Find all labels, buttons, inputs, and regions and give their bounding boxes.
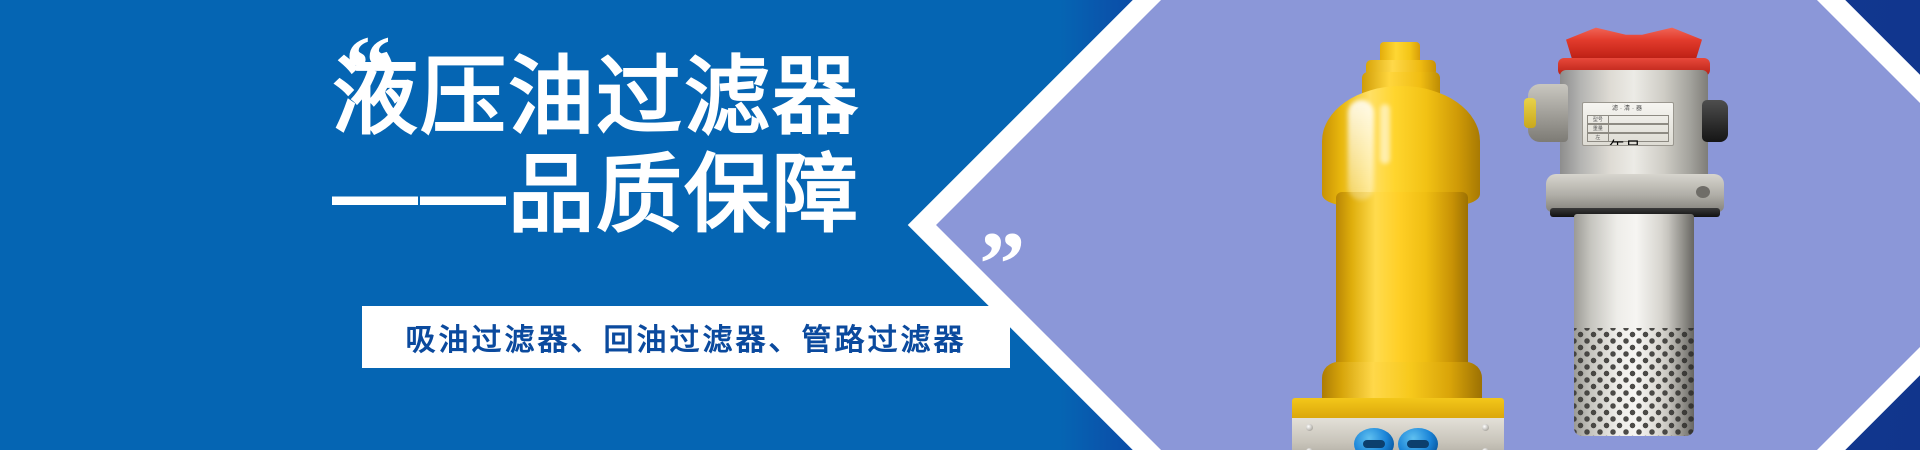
yellow-filter-bolt <box>1482 424 1489 431</box>
grey-filter-mounting-flange <box>1546 174 1724 212</box>
nameplate-row-label: 左 <box>1588 134 1609 141</box>
nameplate-title: 滤·清·器 <box>1583 105 1673 114</box>
headline-line-2: ——品质保障 <box>0 146 860 244</box>
subtitle-text: 吸油过滤器、回油过滤器、管路过滤器 <box>406 315 967 359</box>
nameplate-row: 左 年月 <box>1587 133 1669 142</box>
nameplate-row-value: 年月 <box>1609 134 1668 141</box>
yellow-filter-manifold <box>1292 398 1504 420</box>
grey-filter-indicator-knob <box>1702 100 1728 142</box>
yellow-filter-bolt <box>1306 424 1313 431</box>
product-yellow-pressure-line-filter <box>1292 42 1502 442</box>
headline-copy-block: “ 液压油过滤器 ——品质保障 „ 吸油过滤器、回油过滤器、管路过滤器 <box>0 0 1100 450</box>
yellow-filter-highlight <box>1348 100 1374 200</box>
nameplate-row-label: 重量 <box>1588 125 1609 132</box>
page-title: 液压油过滤器 ——品质保障 <box>0 48 1000 244</box>
yellow-filter-highlight-secondary <box>1380 104 1390 164</box>
quote-close-icon: „ <box>980 170 1026 262</box>
yellow-filter-bowl <box>1322 86 1480 206</box>
hydraulic-filter-promo-banner: 滤·清·器 型号 重量 左 年月 <box>0 0 1920 450</box>
grey-filter-side-port <box>1528 84 1568 142</box>
nameplate-row-value <box>1609 125 1668 132</box>
product-photo-group: 滤·清·器 型号 重量 左 年月 <box>1270 0 1790 450</box>
nameplate-row: 重量 <box>1587 124 1669 133</box>
yellow-filter-body <box>1336 192 1468 382</box>
nameplate-rows: 型号 重量 左 年月 <box>1587 115 1669 142</box>
nameplate-row-label: 型号 <box>1588 116 1609 123</box>
nameplate-row: 型号 <box>1587 115 1669 124</box>
headline-line-1: 液压油过滤器 <box>0 48 860 146</box>
grey-filter-element-tube <box>1574 214 1694 436</box>
subtitle-banner: 吸油过滤器、回油过滤器、管路过滤器 <box>362 306 1010 368</box>
grey-filter-tube-shading <box>1668 214 1694 436</box>
product-grey-return-line-filter: 滤·清·器 型号 重量 左 年月 <box>1510 14 1760 450</box>
nameplate-row-value <box>1609 116 1668 123</box>
grey-filter-nameplate: 滤·清·器 型号 重量 左 年月 <box>1582 102 1674 146</box>
